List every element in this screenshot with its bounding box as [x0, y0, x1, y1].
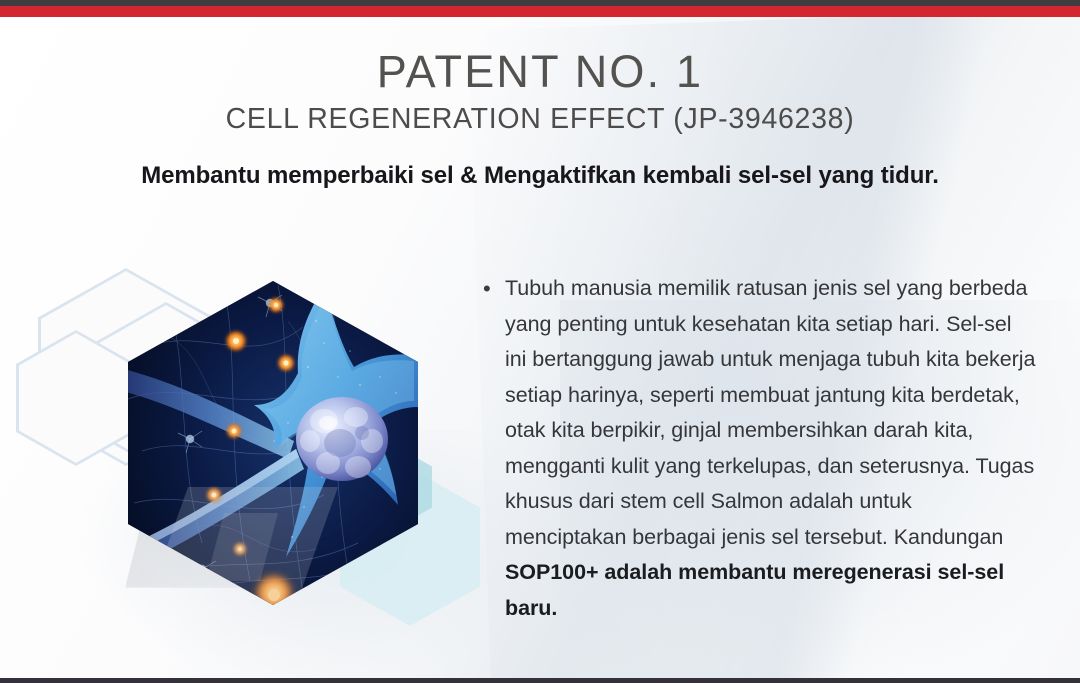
bullet-paragraph-lead: Tubuh manusia memilik ratusan jenis sel … [505, 276, 1035, 549]
top-red-accent-bar [0, 6, 1080, 17]
page-title: PATENT NO. 1 [0, 46, 1080, 98]
bullet-paragraph-emphasis: SOP100+ adalah membantu meregenerasi sel… [505, 560, 1004, 620]
bullet-paragraph: Tubuh manusia memilik ratusan jenis sel … [505, 271, 1036, 626]
bullet-list-item: • Tubuh manusia memilik ratusan jenis se… [483, 271, 1036, 626]
bullet-marker-icon: • [483, 271, 505, 307]
slide-canvas: PATENT NO. 1 CELL REGENERATION EFFECT (J… [0, 0, 1080, 683]
bottom-dark-bar [0, 678, 1080, 683]
illustration-group [30, 250, 480, 630]
page-subtitle: CELL REGENERATION EFFECT (JP-3946238) [0, 103, 1080, 136]
body-content: • Tubuh manusia memilik ratusan jenis se… [483, 271, 1036, 626]
decorative-hexagon-outline-small [16, 330, 136, 466]
tagline-text: Membantu memperbaiki sel & Mengaktifkan … [0, 162, 1080, 190]
